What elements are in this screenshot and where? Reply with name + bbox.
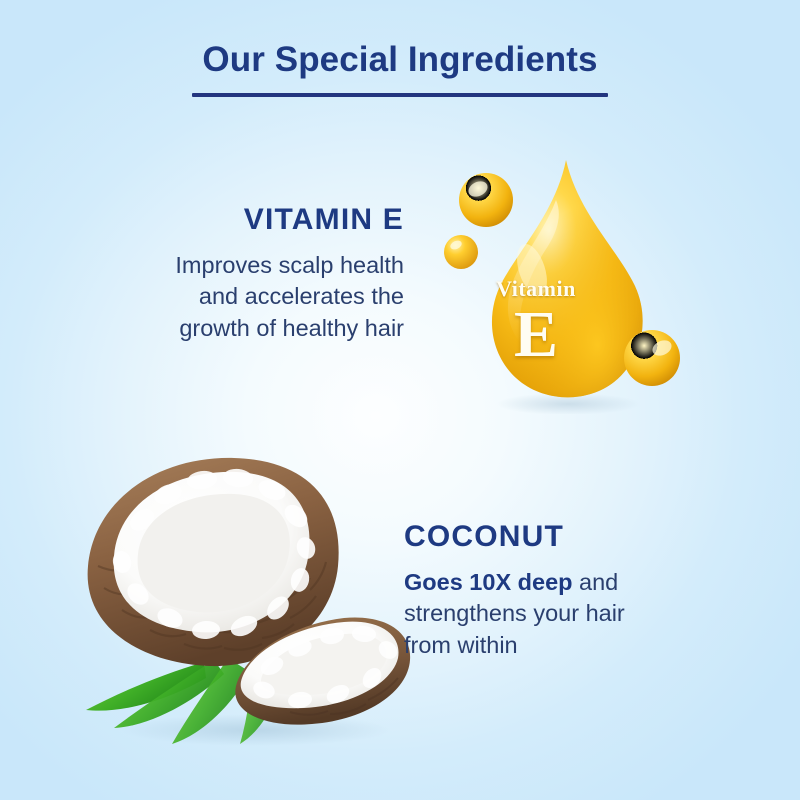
coconut-line-1-rest: and: [573, 569, 619, 595]
page-title-block: Our Special Ingredients: [0, 42, 800, 97]
coconut-heading: COCONUT: [404, 522, 744, 552]
coconut-illustration: [76, 438, 426, 750]
oil-bubble-medium: [624, 330, 680, 386]
vitamin-e-description-line-3: growth of healthy hair: [74, 313, 404, 344]
coconut-text-block: COCONUT Goes 10X deep and strengthens yo…: [404, 522, 744, 661]
vitamin-e-description-line-2: and accelerates the: [74, 281, 404, 312]
vitamin-e-heading: VITAMIN E: [74, 205, 404, 235]
page-title: Our Special Ingredients: [0, 42, 800, 77]
coconut-emphasis-text: Goes 10X deep: [404, 569, 573, 595]
vitamin-e-description: Improves scalp health and accelerates th…: [74, 250, 404, 344]
oil-bubble-small: [444, 235, 478, 269]
coconut-description: Goes 10X deep and strengthens your hair …: [404, 567, 744, 661]
vitamin-e-description-line-1: Improves scalp health: [74, 250, 404, 281]
coconut-description-line-1: Goes 10X deep and: [404, 567, 744, 598]
vitamin-e-droplet-illustration: Vitamin E: [436, 152, 692, 414]
coconut-description-line-3: from within: [404, 630, 744, 661]
title-underline-rule: [192, 93, 608, 97]
vitamin-e-text-block: VITAMIN E Improves scalp health and acce…: [74, 205, 404, 344]
coconut-description-line-2: strengthens your hair: [404, 598, 744, 629]
oil-bubble-large: [459, 173, 513, 227]
ingredients-infographic: Our Special Ingredients: [0, 0, 800, 800]
